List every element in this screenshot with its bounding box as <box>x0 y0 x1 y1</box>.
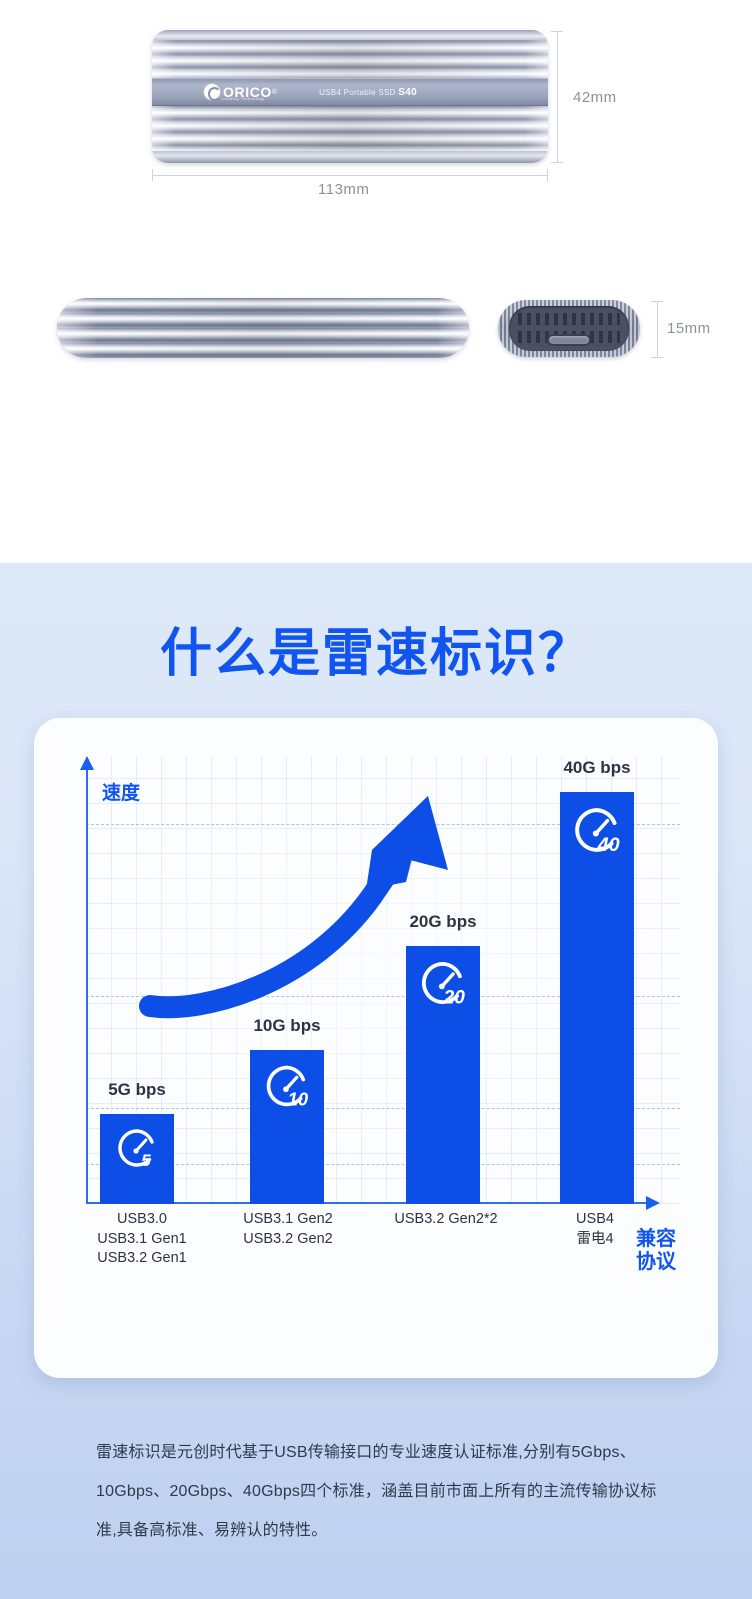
x-axis-title-line: 兼容 <box>636 1228 696 1251</box>
gauge-number: 10 <box>288 1089 309 1110</box>
speed-gauge-icon: 20 <box>416 956 470 1010</box>
thickness-dimension-cap-bottom <box>651 357 663 358</box>
product-label-band: ORICO® Leading Technology USB4 Portable … <box>152 78 548 106</box>
product-model-code: S40 <box>398 87 417 98</box>
chart-bars: 5G bps 5 10G bps <box>86 756 680 1204</box>
table-row[interactable]: 5 <box>100 1114 174 1204</box>
speed-gauge-icon: 10 <box>261 1060 313 1112</box>
product-model-prefix: USB4 Portable SSD <box>319 88 398 97</box>
height-dimension-cap-bottom <box>551 162 563 163</box>
x-axis-labels: USB3.0 USB3.1 Gen1 USB3.2 Gen1 USB3.1 Ge… <box>86 1206 680 1266</box>
x-axis-label-line: USB3.1 Gen2 <box>218 1210 358 1230</box>
bar-group-usb31gen2: 10G bps 10 <box>250 756 324 1204</box>
x-axis-label-usb32gen2x2: USB3.2 Gen2*2 <box>371 1210 521 1230</box>
thickness-dimension-line <box>657 301 658 357</box>
thickness-dimension-cap-top <box>651 301 663 302</box>
speed-gauge-icon: 40 <box>569 802 625 858</box>
orico-logo-tagline: Leading Technology <box>222 96 265 101</box>
bar-value-label: 5G bps <box>108 1080 166 1100</box>
x-axis-label-line: USB3.2 Gen2 <box>218 1230 358 1250</box>
table-row[interactable]: 10 <box>250 1050 324 1204</box>
table-row[interactable]: 20 <box>406 946 480 1204</box>
usb-c-port-icon <box>547 334 591 346</box>
thickness-dimension-label: 15mm <box>667 320 711 337</box>
bar-value-label: 40G bps <box>563 758 630 778</box>
height-dimension-cap-top <box>551 31 563 32</box>
bar-group-usb32gen2x2: 20G bps 20 <box>406 756 480 1204</box>
width-dimension-label: 113mm <box>318 181 369 198</box>
bar-group-usb30: 5G bps 5 <box>100 756 174 1204</box>
product-end-view <box>498 300 640 357</box>
speed-standard-section: 什么是雷速标识？ 速度 5G bps <box>0 563 752 1599</box>
x-axis-label-line: 雷电4 <box>538 1230 652 1250</box>
gauge-number: 20 <box>443 987 466 1008</box>
x-axis-label-line: USB3.1 Gen1 <box>72 1230 212 1250</box>
registered-trademark-icon: ® <box>272 89 277 96</box>
width-dimension-cap-right <box>547 169 548 181</box>
bar-value-label: 20G bps <box>409 912 476 932</box>
gauge-number: 5 <box>141 1151 151 1170</box>
width-dimension-cap-left <box>152 169 153 181</box>
vent-slots-top <box>518 313 620 325</box>
x-axis-label-line: USB3.2 Gen2*2 <box>371 1210 521 1230</box>
bar-group-usb4: 40G bps 40 <box>560 756 634 1204</box>
x-axis-label-line: USB4 <box>538 1210 652 1230</box>
x-axis-title-line: 协议 <box>636 1251 696 1274</box>
orico-logo-mark <box>204 84 220 100</box>
product-model-text: USB4 Portable SSD S40 <box>319 87 417 98</box>
speed-chart-card: 速度 5G bps <box>34 718 718 1378</box>
table-row[interactable]: 40 <box>560 792 634 1204</box>
x-axis-label-usb4: USB4 雷电4 <box>538 1210 652 1249</box>
x-axis-label-usb31gen2: USB3.1 Gen2 USB3.2 Gen2 <box>218 1210 358 1249</box>
width-dimension-line <box>152 175 548 176</box>
page-title: 什么是雷速标识？ <box>0 611 752 686</box>
chart-plot-area: 速度 5G bps <box>80 756 680 1266</box>
orico-logo: ORICO® Leading Technology <box>204 84 277 100</box>
end-view-panel <box>509 306 629 351</box>
x-axis-title: 兼容协议 <box>636 1228 696 1274</box>
product-photo-section: ORICO® Leading Technology USB4 Portable … <box>0 0 752 563</box>
x-axis-label-line: USB3.2 Gen1 <box>72 1249 212 1269</box>
gauge-number: 40 <box>597 834 620 856</box>
height-dimension-label: 42mm <box>573 89 617 106</box>
x-axis-label-usb30: USB3.0 USB3.1 Gen1 USB3.2 Gen1 <box>72 1210 212 1269</box>
height-dimension-line <box>557 31 558 162</box>
bar-value-label: 10G bps <box>253 1016 320 1036</box>
speed-gauge-icon: 5 <box>113 1124 161 1172</box>
section-caption: 雷速标识是元创时代基于USB传输接口的专业速度认证标准,分别有5Gbps、10G… <box>96 1433 676 1551</box>
x-axis-label-line: USB3.0 <box>72 1210 212 1230</box>
product-top-view: ORICO® Leading Technology USB4 Portable … <box>152 30 548 163</box>
product-side-view <box>57 298 469 358</box>
